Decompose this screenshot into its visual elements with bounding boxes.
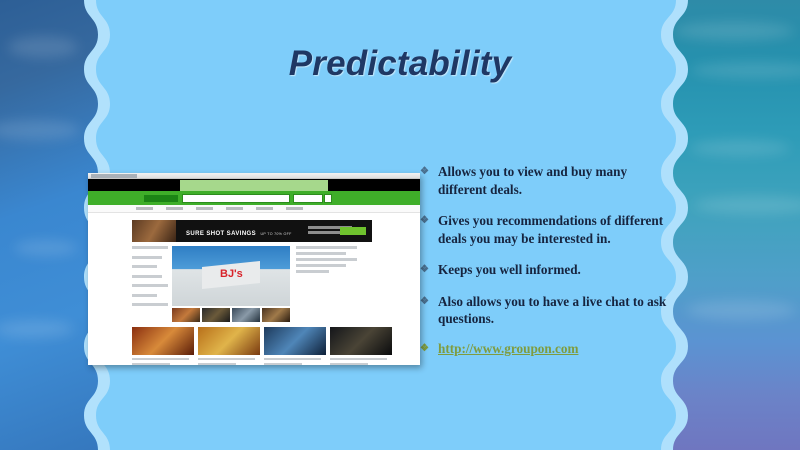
card-title-line (132, 363, 170, 365)
search-icon (324, 194, 332, 203)
sidebar-item (132, 303, 168, 306)
banner-image (132, 220, 176, 242)
subnav-item (196, 207, 213, 210)
card-thumbnail (198, 327, 260, 355)
featured-deal: BJ's (172, 246, 290, 322)
bullet-text: Keeps you well informed. (438, 262, 581, 277)
sidebar-item (132, 265, 157, 268)
banner-headline: SURE SHOT SAVINGS (186, 231, 256, 237)
subnav-item (136, 207, 153, 210)
deal-card-grid (132, 327, 398, 366)
diamond-star-bullet-icon: ❖ (420, 340, 429, 357)
card-thumbnail (264, 327, 326, 355)
banner-text: SURE SHOT SAVINGS UP TO 70% OFF (186, 222, 292, 240)
thumbnail (262, 308, 290, 322)
card-title-line (330, 358, 387, 361)
groupon-screenshot-image: SURE SHOT SAVINGS UP TO 70% OFF (88, 173, 420, 365)
list-item: ❖ Also allows you to have a live chat to… (420, 293, 672, 328)
bullet-list: ❖ Allows you to view and buy many differ… (420, 163, 672, 357)
category-sidebar (132, 246, 172, 322)
card-title-line (198, 363, 236, 365)
banner-cta-button (340, 227, 366, 235)
list-item (198, 327, 260, 366)
diamond-star-bullet-icon: ❖ (420, 261, 429, 278)
groupon-logo (144, 195, 178, 202)
card-thumbnail (330, 327, 392, 355)
bullet-text: Also allows you to have a live chat to a… (438, 294, 666, 327)
card-title-line (198, 358, 255, 361)
banner-subline: UP TO 70% OFF (261, 232, 292, 236)
browser-tab (91, 174, 137, 178)
card-title-line (264, 363, 302, 365)
card-title-line (264, 358, 321, 361)
category-subnav (88, 205, 420, 213)
subnav-item (226, 207, 243, 210)
deal-title-line (296, 252, 346, 255)
deal-desc-line (296, 264, 346, 267)
list-item (132, 327, 194, 366)
thumbnail (232, 308, 260, 322)
deal-purchase-panel (290, 246, 360, 322)
bullet-text: Gives you recommendations of different d… (438, 213, 663, 246)
promo-strip (180, 180, 328, 191)
slide-canvas: Predictability ❖ Allows you to view and … (0, 0, 800, 450)
card-thumbnail (132, 327, 194, 355)
thumbnail (172, 308, 200, 322)
list-item (264, 327, 326, 366)
list-item: ❖ Allows you to view and buy many differ… (420, 163, 672, 198)
sure-shot-savings-banner: SURE SHOT SAVINGS UP TO 70% OFF (132, 220, 372, 242)
city-select (293, 194, 323, 203)
bjs-storefront-photo: BJ's (172, 246, 290, 306)
list-item (330, 327, 392, 366)
card-title-line (330, 363, 368, 365)
deal-detail-row: BJ's (132, 246, 398, 322)
deal-title-line (296, 246, 357, 249)
search-input (182, 194, 290, 203)
site-top-black-bar (88, 179, 420, 191)
card-title-line (132, 358, 189, 361)
subnav-item (286, 207, 303, 210)
deal-desc-line (296, 270, 329, 273)
subnav-item (256, 207, 273, 210)
groupon-navbar (88, 191, 420, 205)
page-title: Predictability (0, 44, 800, 84)
thumbnail (202, 308, 230, 322)
list-item: ❖ Keeps you well informed. (420, 261, 672, 279)
diamond-star-bullet-icon: ❖ (420, 293, 429, 310)
bullet-text: Allows you to view and buy many differen… (438, 164, 627, 197)
diamond-star-bullet-icon: ❖ (420, 163, 429, 180)
sidebar-item (132, 256, 162, 259)
diamond-star-bullet-icon: ❖ (420, 212, 429, 229)
list-item: ❖ Gives you recommendations of different… (420, 212, 672, 247)
search-area (182, 194, 332, 203)
groupon-url-link[interactable]: http://www.groupon.com (438, 341, 578, 356)
site-page-body: SURE SHOT SAVINGS UP TO 70% OFF (88, 213, 420, 365)
bjs-logo-text: BJ's (220, 268, 243, 280)
list-item-link[interactable]: ❖ http://www.groupon.com (420, 340, 672, 358)
sidebar-item (132, 275, 162, 278)
sidebar-item (132, 246, 168, 249)
sidebar-item (132, 294, 157, 297)
subnav-item (166, 207, 183, 210)
photo-thumbnail-strip (172, 308, 290, 322)
browser-chrome-bar (88, 173, 420, 179)
sidebar-item (132, 284, 168, 287)
deal-desc-line (296, 258, 357, 261)
